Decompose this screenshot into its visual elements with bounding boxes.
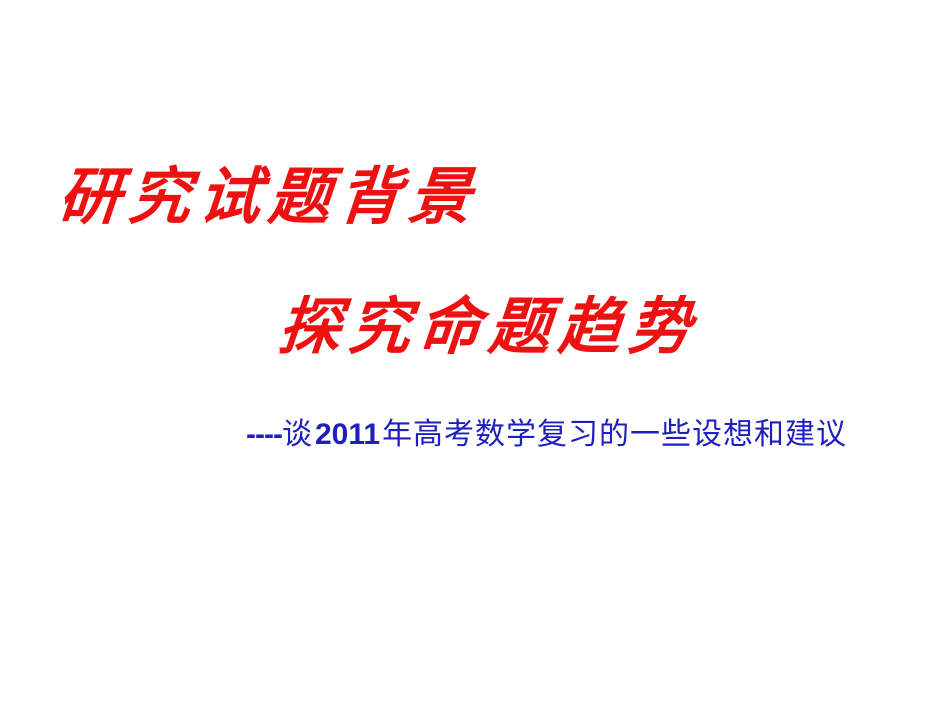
subtitle-lead-char: 谈 [282,417,313,452]
subtitle-tail-text: 年高考数学复习的一些设想和建议 [382,417,847,452]
slide-subtitle: ----谈2011年高考数学复习的一些设想和建议 [246,418,847,453]
presentation-slide: 研究试题背景 探究命题趋势 ----谈2011年高考数学复习的一些设想和建议 [0,0,950,713]
slide-title-line-2: 探究命题趋势 [276,296,701,358]
subtitle-dash-prefix: ---- [246,418,282,451]
slide-title-line-1: 研究试题背景 [56,166,481,228]
subtitle-year: 2011 [313,418,382,451]
